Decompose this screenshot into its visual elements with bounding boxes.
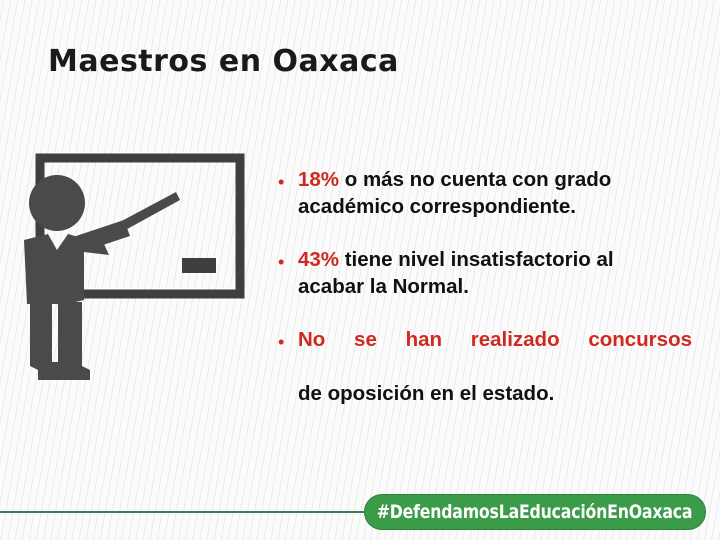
bullet-text-3: No se han realizado concursos de oposici…: [298, 326, 692, 407]
bullet-list: • 18% o más no cuenta con grado académic…: [278, 166, 692, 407]
list-item: • 18% o más no cuenta con grado académic…: [278, 166, 692, 220]
bullet-text-1: 18% o más no cuenta con grado académico …: [298, 166, 692, 220]
bullet-dot-icon: •: [278, 246, 298, 271]
chalkboard-eraser: [182, 258, 216, 273]
list-item: • 43% tiene nivel insatisfactorio al aca…: [278, 246, 692, 300]
teacher-figure-icon: [24, 175, 180, 380]
bullet-text-2: 43% tiene nivel insatisfactorio al acaba…: [298, 246, 692, 300]
bullet-dot-icon: •: [278, 326, 298, 351]
bullet-highlight-1: 18%: [298, 168, 339, 191]
list-item: • No se han realizado concursos de oposi…: [278, 326, 692, 407]
hashtag-label: #DefendamosLaEducaciónEnOaxaca: [377, 501, 693, 523]
hashtag-badge: #DefendamosLaEducaciónEnOaxaca: [364, 494, 706, 530]
bullet-dot-icon: •: [278, 166, 298, 191]
slide-canvas: Maestros en Oaxaca: [0, 0, 720, 540]
bullet-line2-2: acabar la Normal.: [298, 273, 692, 300]
teacher-right-leg: [58, 302, 90, 380]
bullet-rest-2: tiene nivel insatisfactorio al: [339, 248, 614, 271]
bullet-rest-1: o más no cuenta con grado: [339, 168, 611, 191]
teacher-head: [29, 175, 85, 231]
footer-divider-line: [0, 511, 372, 513]
page-title: Maestros en Oaxaca: [48, 44, 399, 79]
teacher-at-chalkboard-illustration: [12, 152, 264, 400]
pointer-stick: [116, 192, 180, 233]
bullet-line2-3: de oposición en el estado.: [298, 380, 692, 407]
bullet-highlight-2: 43%: [298, 248, 339, 271]
bullet-highlight-3: No se han realizado concursos: [298, 326, 692, 380]
bullet-line2-1: académico correspondiente.: [298, 193, 692, 220]
